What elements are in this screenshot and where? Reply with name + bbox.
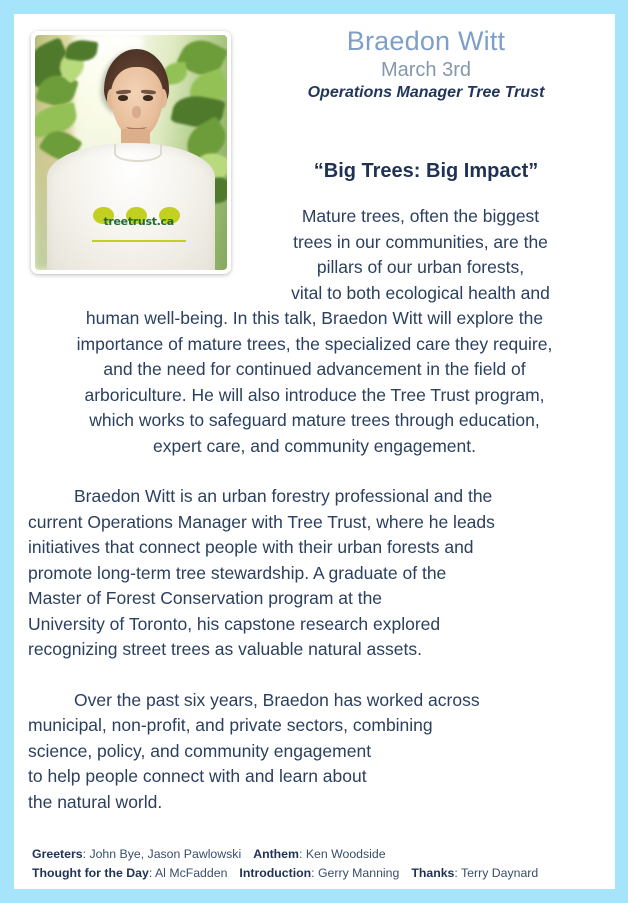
credit-value: Terry Daynard — [461, 866, 538, 880]
credit-value: Al McFadden — [155, 866, 227, 880]
paragraph-line: arboriculture. He will also introduce th… — [28, 383, 601, 409]
photo-brow-right — [140, 89, 156, 94]
paragraph-line: initiatives that connect people with the… — [28, 535, 601, 561]
credit-separator: : — [299, 847, 306, 861]
paragraph-line: which works to safeguard mature trees th… — [28, 408, 601, 434]
credit-value: Ken Woodside — [306, 847, 386, 861]
paragraph-line: University of Toronto, his capstone rese… — [28, 612, 601, 638]
speaker-photo: treetrust.ca — [35, 35, 227, 270]
credit-label: Thought for the Day — [32, 866, 149, 880]
photo-tshirt-collar — [114, 144, 162, 161]
slide-canvas: treetrust.ca Braedon Witt March 3rd Oper… — [14, 14, 615, 889]
credit-label: Introduction — [239, 866, 311, 880]
credit-label: Thanks — [411, 866, 454, 880]
credit-label: Greeters — [32, 847, 83, 861]
credit-value: Gerry Manning — [318, 866, 399, 880]
paragraph-line: Over the past six years, Braedon has wor… — [28, 688, 601, 714]
tshirt-logo-text: treetrust.ca — [89, 216, 189, 227]
paragraph-3: Over the past six years, Braedon has wor… — [28, 688, 601, 816]
paragraph-line: the natural world. — [28, 790, 601, 816]
paragraph-line: science, policy, and community engagemen… — [28, 739, 601, 765]
slide-frame: treetrust.ca Braedon Witt March 3rd Oper… — [0, 0, 628, 903]
credits-row-1: Greeters: John Bye, Jason PawlowskiAnthe… — [32, 845, 594, 864]
credits-footer: Greeters: John Bye, Jason PawlowskiAnthe… — [32, 845, 594, 883]
tshirt-logo-underline — [92, 240, 186, 242]
speaker-role: Operations Manager Tree Trust — [246, 83, 606, 103]
photo-brow-left — [116, 89, 132, 94]
speaker-photo-frame: treetrust.ca — [31, 31, 231, 274]
paragraph-line: Braedon Witt is an urban forestry profes… — [28, 484, 601, 510]
paragraph-line: expert care, and community engagement. — [28, 434, 601, 460]
photo-eye-right — [143, 95, 153, 100]
paragraph-line: promote long-term tree stewardship. A gr… — [28, 561, 601, 587]
talk-date: March 3rd — [246, 58, 606, 82]
paragraph-line: Master of Forest Conservation program at… — [28, 586, 601, 612]
paragraph-line: human well-being. In this talk, Braedon … — [28, 306, 601, 332]
credits-row-2: Thought for the Day: Al McFaddenIntroduc… — [32, 864, 594, 883]
paragraph-line: municipal, non-profit, and private secto… — [28, 713, 601, 739]
paragraph-line: recognizing street trees as valuable nat… — [28, 637, 601, 663]
paragraph-line: current Operations Manager with Tree Tru… — [28, 510, 601, 536]
paragraph-line: to help people connect with and learn ab… — [28, 764, 601, 790]
credit-value: John Bye, Jason Pawlowski — [89, 847, 241, 861]
paragraph-line: and the need for continued advancement i… — [28, 357, 601, 383]
speaker-name: Braedon Witt — [246, 26, 606, 57]
photo-nose — [132, 106, 141, 119]
paragraph-2: Braedon Witt is an urban forestry profes… — [28, 484, 601, 663]
photo-eye-left — [118, 95, 128, 100]
talk-title: “Big Trees: Big Impact” — [246, 160, 606, 183]
paragraph-line: importance of mature trees, the speciali… — [28, 332, 601, 358]
credit-label: Anthem — [253, 847, 299, 861]
speaker-header: Braedon Witt March 3rd Operations Manage… — [246, 26, 606, 103]
talk-description: Mature trees, often the biggest trees in… — [28, 204, 601, 815]
credit-separator: : — [311, 866, 318, 880]
tshirt-logo: treetrust.ca — [89, 207, 189, 245]
